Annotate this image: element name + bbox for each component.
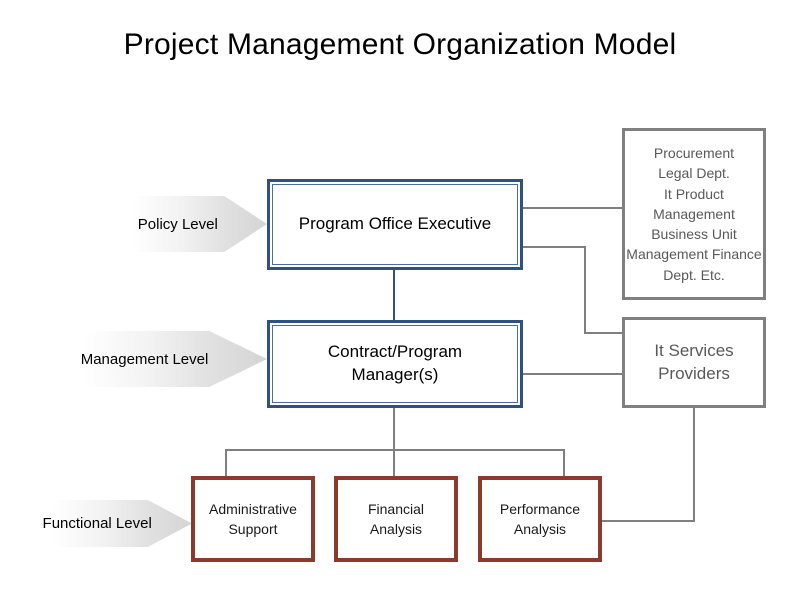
- level-arrow-management: Management Level: [45, 331, 267, 387]
- connector-tree-to-administrative-support: [225, 449, 227, 477]
- connector-functional-tree-bar: [225, 449, 565, 451]
- level-arrow-functional-label: Functional Level: [43, 515, 152, 532]
- diagram-canvas: Project Management Organization Model Po…: [0, 0, 800, 600]
- node-support-functions-label: Procurement Legal Dept. It Product Manag…: [625, 143, 763, 285]
- level-arrow-policy: Policy Level: [103, 196, 267, 252]
- node-financial-analysis[interactable]: Financial Analysis: [334, 476, 458, 562]
- page-title: Project Management Organization Model: [0, 28, 800, 62]
- connector-itservices-to-performance-seg2: [598, 520, 695, 522]
- node-contract-program-manager-label: Contract/Program Manager(s): [328, 341, 462, 387]
- node-performance-analysis[interactable]: Performance Analysis: [478, 476, 602, 562]
- connector-tree-to-financial-analysis: [393, 449, 395, 477]
- level-arrow-management-label: Management Level: [81, 351, 209, 368]
- level-arrow-functional: Functional Level: [22, 500, 192, 547]
- level-arrow-policy-label: Policy Level: [138, 216, 218, 233]
- connector-executive-to-support: [521, 207, 623, 209]
- node-program-office-executive-label: Program Office Executive: [299, 213, 491, 236]
- connector-manager-tree-stem: [393, 407, 395, 451]
- node-administrative-support[interactable]: Administrative Support: [191, 476, 315, 562]
- node-administrative-support-label: Administrative Support: [209, 499, 297, 540]
- connector-executive-to-itservices-seg3: [584, 332, 624, 334]
- node-support-functions[interactable]: Procurement Legal Dept. It Product Manag…: [622, 128, 766, 300]
- node-performance-analysis-label: Performance Analysis: [500, 499, 580, 540]
- connector-executive-to-manager: [393, 268, 395, 322]
- connector-tree-to-performance-analysis: [563, 449, 565, 477]
- connector-executive-to-itservices-seg2: [584, 246, 586, 334]
- connector-itservices-to-performance-seg1: [693, 407, 695, 521]
- node-program-office-executive[interactable]: Program Office Executive: [267, 179, 523, 270]
- node-it-services-providers-label: It Services Providers: [654, 340, 733, 386]
- node-contract-program-manager[interactable]: Contract/Program Manager(s): [267, 320, 523, 408]
- connector-manager-to-itservices: [521, 373, 623, 375]
- connector-executive-to-itservices-seg1: [521, 246, 586, 248]
- node-financial-analysis-label: Financial Analysis: [368, 499, 424, 540]
- node-it-services-providers[interactable]: It Services Providers: [622, 317, 766, 408]
